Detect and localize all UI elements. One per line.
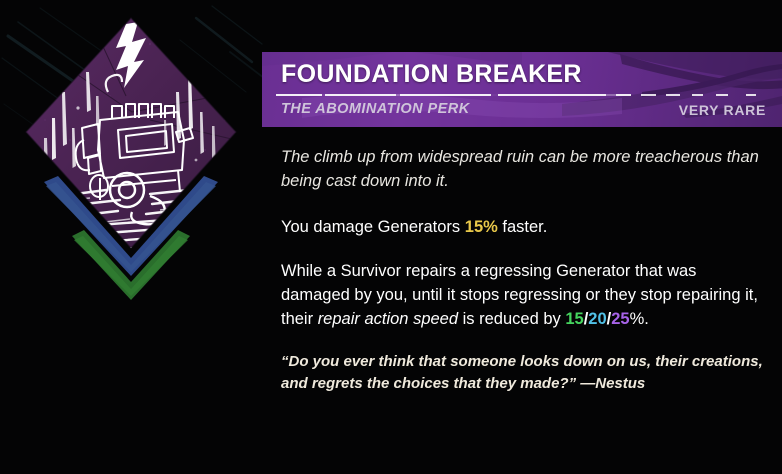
effect-secondary-emphasis: repair action speed	[318, 310, 458, 328]
effect-secondary-part3: %.	[630, 310, 649, 328]
effect-tier-2-value: 20	[588, 310, 606, 328]
perk-description: The climb up from widespread ruin can be…	[281, 145, 767, 395]
effect-tier-1-value: 15	[565, 310, 583, 328]
perk-rarity-label: VERY RARE	[679, 102, 766, 118]
perk-header-bar: FOUNDATION BREAKER THE ABOMINATION PERK …	[262, 52, 782, 127]
effect-secondary-part2: is reduced by	[458, 310, 565, 328]
perk-title: FOUNDATION BREAKER	[281, 60, 582, 89]
title-divider	[276, 94, 768, 96]
perk-flavor-quote: “Do you ever think that someone looks do…	[281, 351, 767, 395]
perk-owner-label: THE ABOMINATION PERK	[281, 101, 470, 117]
perk-flavor-intro: The climb up from widespread ruin can be…	[281, 145, 767, 193]
perk-detail-panel: FOUNDATION BREAKER THE ABOMINATION PERK …	[262, 0, 782, 474]
effect-primary-after: faster.	[498, 218, 548, 236]
perk-icon-artwork	[0, 0, 262, 310]
perk-effect-secondary: While a Survivor repairs a regressing Ge…	[281, 259, 767, 331]
perk-icon[interactable]	[0, 0, 262, 310]
perk-tooltip-screen: FOUNDATION BREAKER THE ABOMINATION PERK …	[0, 0, 782, 474]
effect-primary-value: 15%	[465, 218, 498, 236]
effect-tier-3-value: 25	[611, 310, 629, 328]
effect-primary-before: You damage Generators	[281, 218, 465, 236]
perk-effect-primary: You damage Generators 15% faster.	[281, 215, 767, 239]
